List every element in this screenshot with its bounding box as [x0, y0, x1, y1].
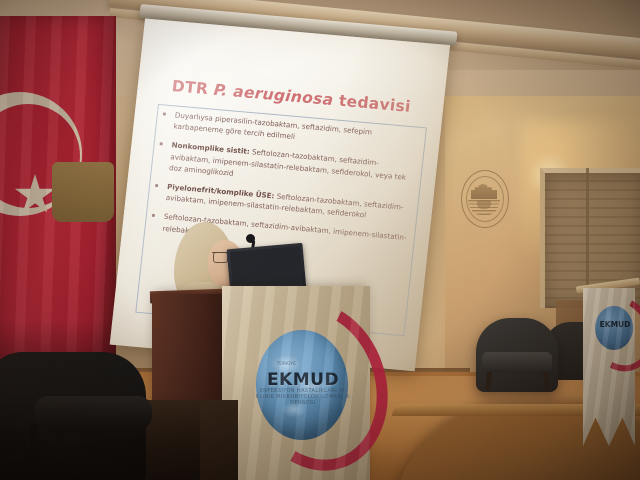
pennant-fabric-folds	[583, 288, 635, 446]
lecture-room-photo: DTR P. aeruginosa tedavisi Duyarlıysa pi…	[0, 0, 640, 480]
armchair-seat	[482, 352, 552, 372]
banner-fabric-folds	[222, 286, 370, 480]
university-emblem-shield	[477, 200, 491, 209]
speaker-skirt	[52, 162, 114, 222]
eyeglasses-left-lens-icon	[213, 252, 228, 263]
microphone-head	[246, 234, 255, 243]
window-mullion	[586, 168, 589, 303]
foreground-shadow	[0, 392, 200, 480]
